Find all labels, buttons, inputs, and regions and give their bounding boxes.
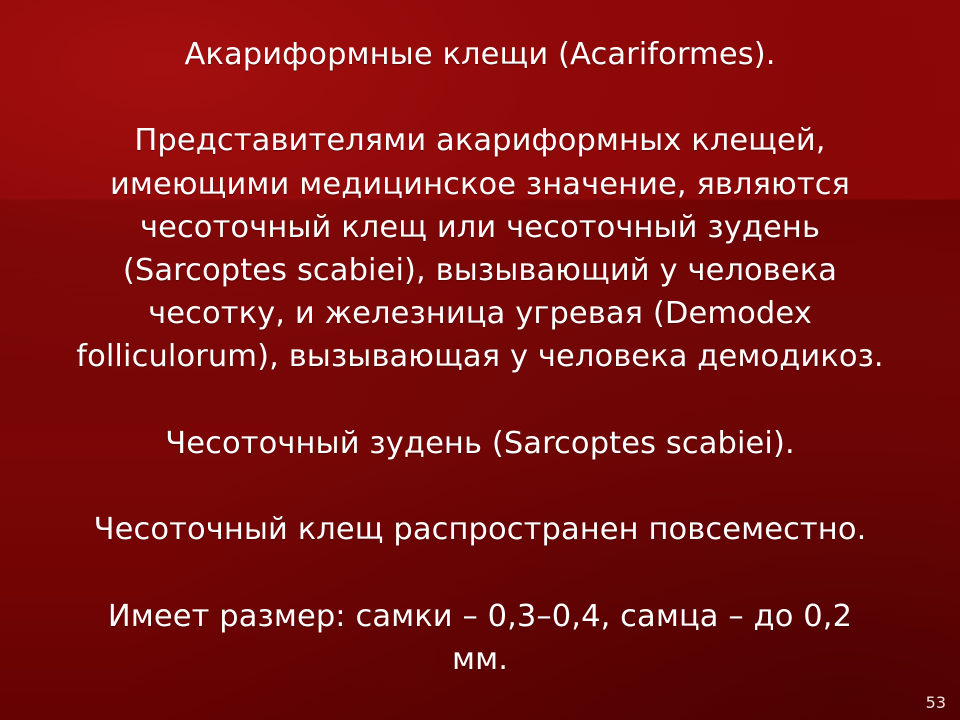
slide-text-line: (Sarcoptes scabiei), вызывающий у челове… [0, 249, 960, 292]
slide-text-line [0, 465, 960, 508]
slide-text-line: мм. [0, 638, 960, 681]
slide-text-line: чесоточный клещ или чесоточный зудень [0, 206, 960, 249]
slide-number: 53 [926, 694, 946, 712]
slide-text-line: Имеет размер: самки – 0,3–0,4, самца – д… [0, 595, 960, 638]
slide-text-line: Чесоточный клещ распространен повсеместн… [0, 508, 960, 551]
slide-text-body: Акариформные клещи (Acariformes). Предст… [0, 0, 960, 681]
slide-text-line [0, 551, 960, 594]
slide-text-line: folliculorum), вызывающая у человека дем… [0, 335, 960, 378]
presentation-slide: Акариформные клещи (Acariformes). Предст… [0, 0, 960, 720]
slide-text-line: Акариформные клещи (Acariformes). [0, 33, 960, 76]
slide-text-line: Представителями акариформных клещей, [0, 119, 960, 162]
slide-text-line: чесотку, и железница угревая (Demodex [0, 292, 960, 335]
slide-text-line: Чесоточный зудень (Sarcoptes scabiei). [0, 422, 960, 465]
slide-text-line [0, 76, 960, 119]
slide-text-line: имеющими медицинское значение, являются [0, 163, 960, 206]
slide-text-line [0, 379, 960, 422]
